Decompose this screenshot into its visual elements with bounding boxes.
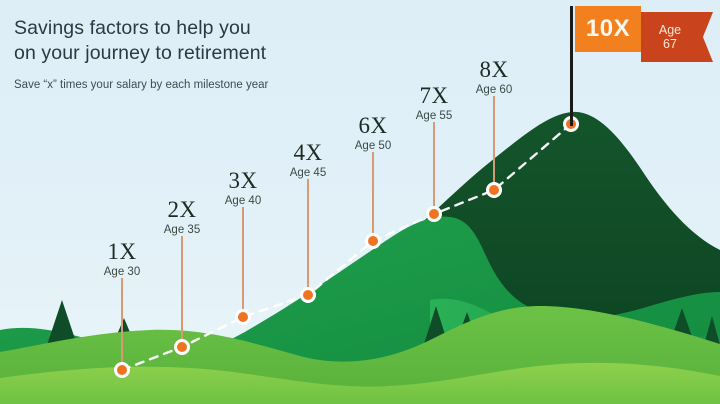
milestone-label-1x: 1X Age 30 [82,240,162,280]
title-line-2: on your journey to retirement [14,41,434,66]
page-title: Savings factors to help you on your jour… [14,16,434,66]
marker-6x [365,233,381,249]
marker-2x [174,339,190,355]
milestone-age: Age 35 [142,223,222,238]
marker-1x [114,362,130,378]
flag-multiple: 10X [575,6,641,52]
marker-3x [235,309,251,325]
header-block: Savings factors to help you on your jour… [14,16,434,91]
milestone-multiple: 1X [82,240,162,264]
infographic-canvas: Savings factors to help you on your jour… [0,0,720,404]
milestone-age: Age 50 [333,139,413,154]
marker-8x [486,182,502,198]
flag-age: Age 67 [641,12,713,62]
milestone-label-8x: 8X Age 60 [454,58,534,98]
flag-age-value: 67 [663,37,677,51]
flag-pole [570,6,573,126]
marker-4x [300,287,316,303]
flag-age-word: Age [659,23,681,37]
milestone-age: Age 60 [454,83,534,98]
milestone-age: Age 40 [203,194,283,209]
marker-7x [426,206,442,222]
milestone-age: Age 45 [268,166,348,181]
page-subtitle: Save “x” times your salary by each miles… [14,79,434,91]
title-line-1: Savings factors to help you [14,16,434,41]
milestone-age: Age 30 [82,265,162,280]
milestone-multiple: 8X [454,58,534,82]
milestone-age: Age 55 [394,109,474,124]
